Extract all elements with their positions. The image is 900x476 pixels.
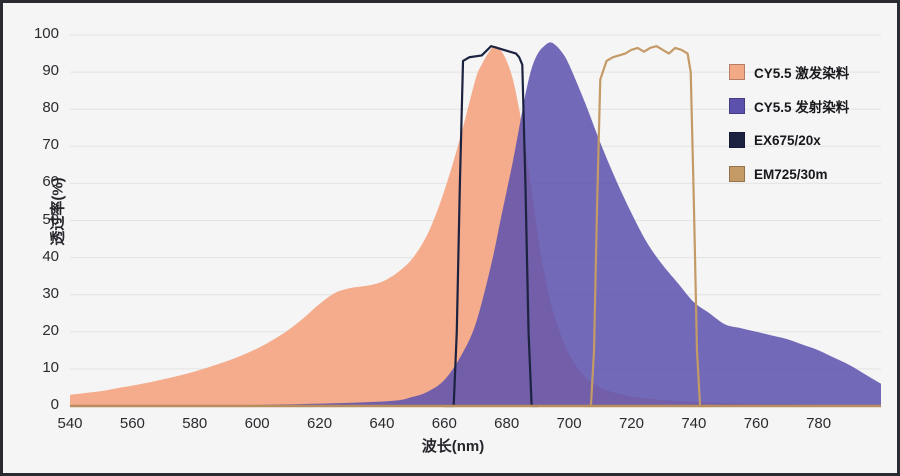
legend-item-ex-filter[interactable]: EX675/20x — [729, 123, 899, 157]
legend-label: EX675/20x — [754, 133, 821, 148]
x-tick-label: 700 — [539, 415, 599, 432]
x-tick-label: 640 — [352, 415, 412, 432]
plot-area: 纳宏光电 Nano Macro Photonics 01020304050607… — [3, 3, 900, 476]
legend-label: CY5.5 发射染料 — [754, 96, 849, 116]
chart-legend: CY5.5 激发染料CY5.5 发射染料EX675/20xEM725/30m — [729, 55, 899, 191]
x-tick-label: 760 — [726, 415, 786, 432]
y-tick-label: 100 — [17, 25, 59, 42]
x-tick-label: 620 — [290, 415, 350, 432]
legend-swatch-icon — [729, 166, 745, 182]
x-tick-label: 540 — [40, 415, 100, 432]
legend-swatch-icon — [729, 132, 745, 148]
x-tick-label: 720 — [601, 415, 661, 432]
x-tick-label: 740 — [664, 415, 724, 432]
legend-item-cy55-excitation[interactable]: CY5.5 激发染料 — [729, 55, 899, 89]
x-axis-label: 波长(nm) — [3, 435, 900, 456]
y-tick-label: 80 — [17, 99, 59, 116]
legend-swatch-icon — [729, 64, 745, 80]
y-axis-label: 透过率(%) — [47, 152, 68, 272]
x-tick-label: 780 — [789, 415, 849, 432]
y-tick-label: 90 — [17, 62, 59, 79]
x-tick-label: 680 — [477, 415, 537, 432]
x-tick-label: 600 — [227, 415, 287, 432]
spectral-chart-figure: 纳宏光电 Nano Macro Photonics 01020304050607… — [0, 0, 900, 476]
legend-item-em-filter[interactable]: EM725/30m — [729, 157, 899, 191]
y-tick-label: 0 — [17, 396, 59, 413]
y-tick-label: 10 — [17, 359, 59, 376]
x-tick-label: 580 — [165, 415, 225, 432]
legend-label: CY5.5 激发染料 — [754, 62, 849, 82]
legend-swatch-icon — [729, 98, 745, 114]
y-tick-label: 30 — [17, 285, 59, 302]
x-tick-label: 560 — [102, 415, 162, 432]
legend-label: EM725/30m — [754, 167, 828, 182]
y-tick-label: 20 — [17, 322, 59, 339]
x-tick-label: 660 — [414, 415, 474, 432]
legend-item-cy55-emission[interactable]: CY5.5 发射染料 — [729, 89, 899, 123]
